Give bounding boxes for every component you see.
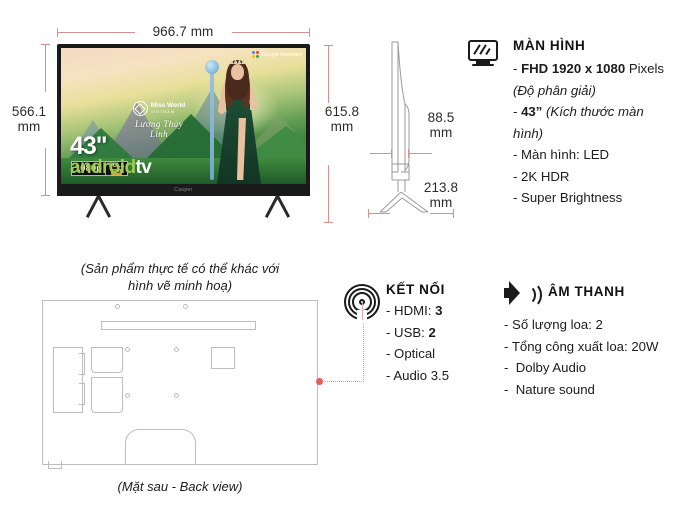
spec-line: - 2K HDR (513, 166, 693, 188)
connector-line-horizontal (322, 381, 364, 382)
spec-line: - FHD 1920 x 1080 Pixels (513, 58, 693, 80)
back-port-group-upper (91, 347, 123, 373)
vesa-hole (125, 347, 130, 352)
miss-world-title: Miss WorldVIETNAM (151, 102, 186, 116)
top-hole (183, 304, 188, 309)
model-figure (201, 58, 275, 184)
depth-line-left (370, 153, 392, 154)
miss-world-subtitle: VIETNAM (151, 109, 186, 116)
depth-tick-right (408, 149, 409, 158)
section-connectivity-lines: - HDMI: 3 - USB: 2 - Optical - Audio 3.5 (386, 300, 496, 386)
staff-orb (205, 60, 219, 74)
depth-label: 88.5 mm (412, 110, 470, 140)
section-connectivity-title: KẾT NỐI (386, 282, 445, 297)
android-tv-logo: androidtv (70, 157, 151, 179)
wifi-signal-icon (344, 284, 380, 320)
tv-bottom-bezel: Casper (57, 184, 310, 196)
depth-line-right (408, 153, 432, 154)
product-spec-infographic: 966.7 mm 566.1 mm (0, 0, 696, 522)
spec-line: (Độ phân giải) (513, 80, 693, 102)
stand-leg (97, 195, 111, 217)
back-speaker-bar (101, 321, 256, 330)
stand-depth-tick-left (368, 209, 369, 218)
android-tv-logo-android: android (70, 157, 135, 178)
spec-line: - Tổng công xuất loa: 20W (504, 336, 694, 358)
top-hole (115, 304, 120, 309)
model-head (231, 64, 244, 80)
depth-dimension-group (370, 148, 475, 160)
section-audio-title: ÂM THANH (548, 284, 625, 299)
width-line-right (232, 32, 310, 33)
spec-line: - Super Brightness (513, 187, 693, 209)
spec-line: - Nature sound (504, 379, 694, 401)
back-port-notch (79, 353, 85, 375)
back-port-group-lower (91, 377, 123, 413)
stand-depth-line-right (430, 213, 454, 214)
tv-stand-left (83, 196, 117, 222)
height-stand-value: 615.8 (318, 104, 366, 119)
width-dimension-group: 966.7 mm (57, 22, 310, 42)
google-assistant-label: Google Assistant (261, 52, 302, 58)
google-assistant-icon (252, 51, 259, 58)
miss-world-winner-name: Lương Thùy Linh (127, 119, 191, 139)
staff-prop (210, 62, 214, 180)
back-right-module (211, 347, 235, 369)
monitor-icon (468, 40, 498, 66)
vesa-hole (174, 393, 179, 398)
spec-line: - Màn hình: LED (513, 144, 693, 166)
vesa-hole (174, 347, 179, 352)
back-bottom-tab (48, 461, 62, 469)
spec-line: - USB: 2 (386, 322, 496, 344)
height-line-bottom (45, 148, 46, 196)
stand-depth-line-left (368, 213, 390, 214)
back-port-notch (79, 383, 85, 405)
height-stand-line-top (328, 45, 329, 103)
width-line-left (57, 32, 135, 33)
depth-value: 88.5 (412, 110, 470, 125)
disclaimer-caption: (Sản phẩm thực tế có thể khác với hình v… (48, 260, 312, 294)
section-audio-lines: - Số lượng loa: 2 - Tổng công xuất loa: … (504, 314, 694, 400)
height-unit: mm (0, 119, 58, 134)
disclaimer-line-1: (Sản phẩm thực tế có thể khác với (48, 260, 312, 277)
height-with-stand-dimension-group (322, 45, 338, 223)
tv-brand-label: Casper (174, 187, 193, 193)
spec-line: - Số lượng loa: 2 (504, 314, 694, 336)
speaker-icon (504, 281, 538, 305)
spec-line: - Optical (386, 343, 496, 365)
depth-tick-left (391, 149, 392, 158)
section-display-title: MÀN HÌNH (513, 38, 585, 53)
stand-depth-unit: mm (410, 195, 472, 210)
monitor-foot (472, 64, 494, 66)
depth-unit: mm (412, 125, 470, 140)
spec-line: - Dolby Audio (504, 357, 694, 379)
width-dimension-label: 966.7 mm (133, 24, 233, 39)
stand-depth-label: 213.8 mm (410, 180, 472, 210)
sound-wave (520, 282, 542, 308)
spec-line: - Audio 3.5 (386, 365, 496, 387)
tv-front-view: Google Assistant Miss WorldVIETNAM Lương… (57, 44, 310, 196)
miss-world-emblem-icon (133, 101, 148, 116)
stand-depth-value: 213.8 (410, 180, 472, 195)
height-stand-unit: mm (318, 119, 366, 134)
stand-depth-tick-right (453, 209, 454, 218)
vesa-hole (125, 393, 130, 398)
height-line-top (45, 44, 46, 92)
google-assistant-badge: Google Assistant (252, 51, 302, 58)
spec-line: hình) (513, 123, 693, 145)
height-dimension-label: 566.1 mm (0, 104, 58, 134)
tv-screen-image: Google Assistant Miss WorldVIETNAM Lương… (61, 48, 306, 184)
android-tv-logo-tv: tv (135, 157, 151, 178)
stand-leg (276, 195, 290, 217)
tv-stand-right (262, 196, 296, 222)
tv-back-view (42, 300, 318, 465)
spec-line: - HDMI: 3 (386, 300, 496, 322)
back-view-caption: (Mặt sau - Back view) (48, 478, 312, 495)
miss-world-logo: Miss WorldVIETNAM Lương Thùy Linh (127, 100, 191, 139)
section-display-lines: - FHD 1920 x 1080 Pixels (Độ phân giải) … (513, 58, 693, 209)
wifi-stem (362, 302, 363, 320)
height-value: 566.1 (0, 104, 58, 119)
height-stand-line-bottom (328, 165, 329, 223)
spec-line: - 43” (Kích thước màn (513, 101, 693, 123)
height-with-stand-label: 615.8 mm (318, 104, 366, 134)
disclaimer-line-2: hình vẽ minh hoạ) (48, 277, 312, 294)
back-bottom-bump (125, 429, 196, 465)
